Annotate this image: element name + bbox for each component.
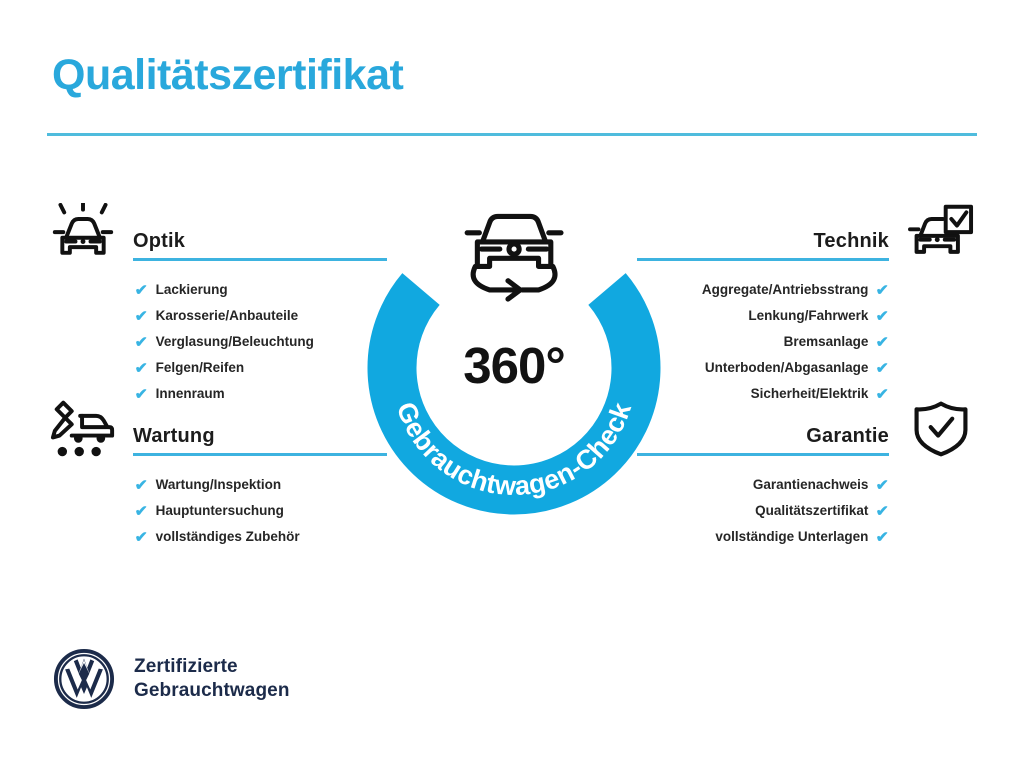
check-icon: ✔: [876, 283, 889, 298]
badge-360-gebrauchtwagen-check: Gebrauchtwagen-Check 360°: [374, 188, 654, 488]
checklist-technik: Aggregate/Antriebsstrang✔ Lenkung/Fahrwe…: [637, 277, 977, 407]
checklist-optik: ✔Lackierung ✔Karosserie/Anbauteile ✔Verg…: [47, 277, 387, 407]
vw-logo: [53, 648, 115, 710]
shield-check-icon: [905, 398, 977, 460]
vw-brand-block: Zertifizierte Gebrauchtwagen: [53, 648, 290, 710]
list-item: ✔Felgen/Reifen: [47, 355, 387, 381]
list-item-label: vollständige Unterlagen: [715, 530, 868, 544]
list-item: Bremsanlage✔: [637, 329, 977, 355]
checklist-garantie: Garantienachweis✔ Qualitätszertifikat✔ v…: [637, 472, 977, 550]
check-icon: ✔: [135, 309, 148, 324]
list-item: vollständige Unterlagen✔: [637, 524, 977, 550]
check-icon: ✔: [135, 361, 148, 376]
vw-wordmark: Zertifizierte Gebrauchtwagen: [134, 655, 290, 704]
section-header: Technik: [637, 205, 977, 267]
list-item: ✔Verglasung/Beleuchtung: [47, 329, 387, 355]
check-icon: ✔: [876, 504, 889, 519]
check-icon: ✔: [135, 504, 148, 519]
list-item-label: Felgen/Reifen: [156, 361, 245, 375]
check-icon: ✔: [135, 283, 148, 298]
section-underline: [637, 258, 889, 261]
page-title: Qualitätszertifikat: [52, 52, 403, 99]
list-item-label: vollständiges Zubehör: [156, 530, 300, 544]
check-icon: ✔: [135, 478, 148, 493]
check-icon: ✔: [876, 361, 889, 376]
section-technik: Technik Aggregate/Antriebsstrang✔ Lenkun…: [637, 205, 977, 407]
list-item-label: Bremsanlage: [784, 335, 869, 349]
checklist-wartung: ✔Wartung/Inspektion ✔Hauptuntersuchung ✔…: [47, 472, 387, 550]
list-item-label: Aggregate/Antriebsstrang: [702, 283, 869, 297]
check-icon: ✔: [876, 335, 889, 350]
list-item: ✔vollständiges Zubehör: [47, 524, 387, 550]
check-icon: ✔: [135, 530, 148, 545]
check-icon: ✔: [135, 335, 148, 350]
section-title: Technik: [814, 230, 890, 253]
list-item-label: Wartung/Inspektion: [156, 478, 282, 492]
section-header: Garantie: [637, 400, 977, 462]
section-underline: [637, 453, 889, 456]
list-item-label: Qualitätszertifikat: [755, 504, 868, 518]
list-item-label: Garantienachweis: [753, 478, 869, 492]
car-shine-icon: [47, 203, 119, 265]
section-underline: [133, 258, 387, 261]
check-icon: ✔: [876, 309, 889, 324]
list-item: Unterboden/Abgasanlage✔: [637, 355, 977, 381]
list-item-label: Sicherheit/Elektrik: [751, 387, 869, 401]
section-garantie: Garantie Garantienachweis✔ Qualitätszert…: [637, 400, 977, 550]
list-item: Lenkung/Fahrwerk✔: [637, 303, 977, 329]
title-divider: [47, 133, 977, 136]
list-item: ✔Hauptuntersuchung: [47, 498, 387, 524]
pen-car-service-icon: [47, 398, 119, 460]
list-item-label: Lenkung/Fahrwerk: [748, 309, 868, 323]
list-item: Garantienachweis✔: [637, 472, 977, 498]
list-item: ✔Wartung/Inspektion: [47, 472, 387, 498]
section-header: Wartung: [47, 400, 387, 462]
list-item-label: Hauptuntersuchung: [156, 504, 284, 518]
section-optik: Optik ✔Lackierung ✔Karosserie/Anbauteile…: [47, 205, 387, 407]
section-title: Wartung: [133, 425, 215, 448]
list-item: ✔Lackierung: [47, 277, 387, 303]
list-item: ✔Karosserie/Anbauteile: [47, 303, 387, 329]
list-item-label: Lackierung: [156, 283, 228, 297]
section-underline: [133, 453, 387, 456]
certificate-page: Qualitätszertifikat: [0, 0, 1024, 768]
check-icon: ✔: [876, 478, 889, 493]
check-icon: ✔: [876, 530, 889, 545]
list-item: Qualitätszertifikat✔: [637, 498, 977, 524]
car-checkbox-icon: [905, 203, 977, 265]
vw-wordmark-line1: Zertifizierte: [134, 655, 290, 679]
list-item-label: Innenraum: [156, 387, 225, 401]
list-item: Aggregate/Antriebsstrang✔: [637, 277, 977, 303]
vw-wordmark-line2: Gebrauchtwagen: [134, 679, 290, 703]
section-wartung: Wartung ✔Wartung/Inspektion ✔Hauptunters…: [47, 400, 387, 550]
list-item-label: Karosserie/Anbauteile: [156, 309, 299, 323]
section-header: Optik: [47, 205, 387, 267]
section-title: Garantie: [806, 425, 889, 448]
list-item-label: Verglasung/Beleuchtung: [156, 335, 314, 349]
section-title: Optik: [133, 230, 185, 253]
list-item-label: Unterboden/Abgasanlage: [705, 361, 869, 375]
car-rotation-icon: [467, 216, 561, 299]
